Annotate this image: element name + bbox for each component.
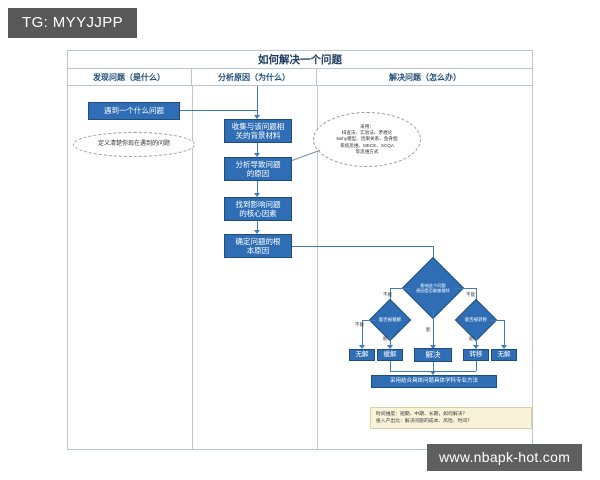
callout-line4: 系统思维、MECE、SCQA [340,143,394,148]
column-header-solve: 解决问题（怎么办） [317,69,533,85]
callout-line3: 5why模型、因果关系、鱼骨图 [336,136,397,141]
node-collect-materials: 收集与该问题相 关的背景材料 [224,119,292,143]
connector-transfer-right [491,320,505,321]
connector-root-left-branch [390,288,411,289]
connector-root-right [292,246,434,247]
edge-label-yes-transfer: 能 [469,336,474,342]
callout-line5: 等思维方式 [356,149,379,154]
node-method-bar: 采用结合具体问题具体学科专业方法 [371,375,497,388]
node-root-cause: 确定问题的根 本原因 [224,234,292,258]
tg-watermark-badge: TG: MYYJJPP [8,8,137,38]
note-time-and-roi: 时间维度：短期、中期、长期，如何解决？ 投入产出比：解决问题的成本、风险、时间？ [370,407,532,429]
node-analyze-line1: 分析导致问题 [236,160,281,169]
connector-relieve-left [362,320,376,321]
column-header-discover: 发现问题（是什么） [67,69,192,85]
column-header-analyze: 分析原因（为什么） [192,69,317,85]
node-start: 遇到一个什么问题 [88,102,180,120]
node-analyze-line2: 的原因 [247,169,270,178]
edge-label-yes-relieve: 能 [383,336,388,342]
connector-header-down [257,86,258,110]
node-analyze-cause: 分析导致问题 的原因 [224,157,292,181]
flowchart-canvas: 如何解决一个问题 发现问题（是什么） 分析原因（为什么） 解决问题（怎么办） 遇… [0,0,600,480]
chart-title-row: 如何解决一个问题 [67,50,533,69]
connector-transfer-to-rail [476,361,477,371]
outcome-unsolved-left: 无解 [349,349,375,361]
node-core-line2: 的核心因素 [239,209,277,218]
outcome-transfer: 转移 [463,349,489,361]
outcome-relieve: 缓解 [377,349,403,361]
node-core-factor: 找到影响问题 的核心因素 [224,197,292,221]
outcome-solve: 解决 [414,348,452,362]
callout-line2: 排查法、实验法、矛盾论 [342,130,393,135]
node-collect-line2: 关的背景材料 [236,131,281,140]
connector-transfer-right-down [504,320,505,348]
edge-label-no-relieve: 不能 [355,322,364,328]
edge-label-no-root: 不能 [383,292,392,298]
note-line-1: 时间维度：短期、中期、长期，如何解决？ [376,411,526,418]
connector-root-center-down [433,310,434,348]
node-root-line2: 本原因 [247,246,270,255]
callout-line1: 采用： [360,124,374,129]
page-title: 如何解决一个问题 [258,52,342,67]
edge-label-no-transfer: 不能 [466,292,475,298]
outcome-unsolved-right: 无解 [491,349,517,361]
site-watermark: www.nbapk-hot.com [427,444,582,471]
node-core-line1: 找到影响问题 [236,200,281,209]
connector-relieve-to-rail [390,361,391,371]
note-define-problem: 定义清楚你现在遇到的问题 [73,132,195,157]
callout-methods: 采用： 排查法、实验法、矛盾论 5why模型、因果关系、鱼骨图 系统思维、MEC… [313,112,421,167]
node-root-line1: 确定问题的根 [236,237,281,246]
connector-root-right-branch [455,288,477,289]
edge-label-yes-center: 能 [426,327,431,333]
column-header-row: 发现问题（是什么） 分析原因（为什么） 解决问题（怎么办） [67,69,533,86]
note-line-2: 投入产出比：解决问题的成本、风险、时间？ [376,418,526,425]
node-collect-line1: 收集与该问题相 [232,122,285,131]
connector-start-right [180,110,258,111]
